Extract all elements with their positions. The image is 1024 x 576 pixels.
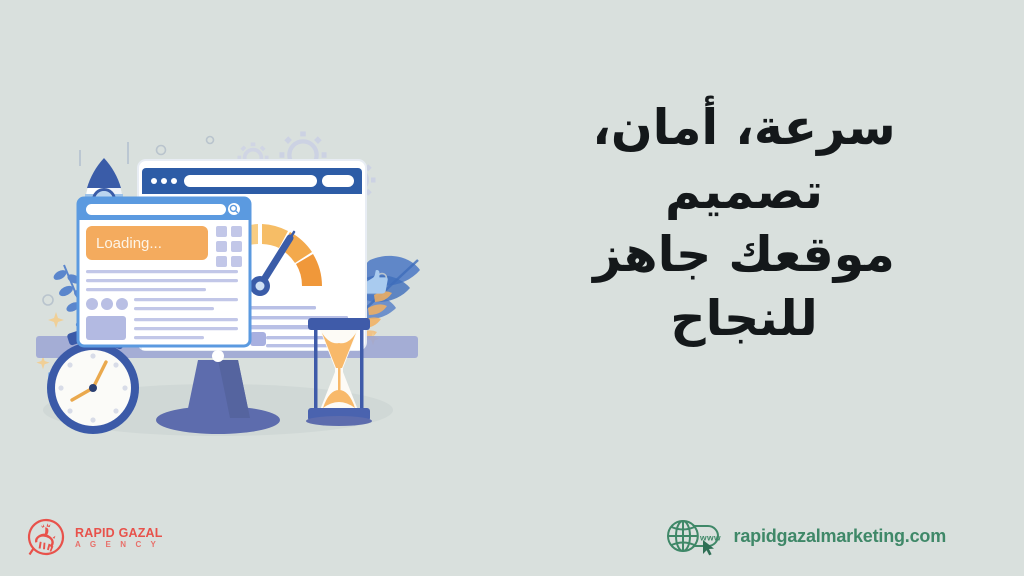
window-dots-icon: [151, 178, 177, 184]
gazelle-logo-icon: [26, 518, 66, 558]
address-bar: [184, 175, 317, 187]
website-footer[interactable]: www rapidgazalmarketing.com: [666, 516, 946, 556]
website-url[interactable]: rapidgazalmarketing.com: [734, 526, 946, 547]
promo-banner: Loading...: [0, 0, 1024, 576]
brand-subtitle: A G E N C Y: [75, 541, 163, 549]
globe-www-icon: www: [666, 516, 722, 556]
headline-line-2: تصميم: [534, 160, 954, 224]
headline: سرعة، أمان، تصميم موقعك جاهز للنجاح: [534, 96, 954, 351]
loading-window-avatars: [86, 298, 128, 310]
hourglass-icon: [306, 318, 372, 426]
headline-line-4: للنجاح: [534, 287, 954, 351]
search-icon: [228, 203, 240, 215]
headline-line-1: سرعة، أمان،: [534, 96, 954, 160]
toolbar-pill: [322, 175, 354, 187]
loading-window-image: [86, 316, 126, 340]
loading-window: Loading...: [78, 198, 250, 346]
brand-logo[interactable]: RAPID GAZAL A G E N C Y: [26, 518, 163, 558]
headline-line-3: موقعك جاهز: [534, 223, 954, 287]
search-bar: [86, 204, 226, 215]
hero-illustration: Loading...: [18, 120, 438, 450]
monitor-camera: [212, 350, 224, 362]
brand-name: RAPID GAZAL: [75, 527, 163, 540]
loading-label: Loading...: [96, 235, 162, 252]
brand-text: RAPID GAZAL A G E N C Y: [75, 527, 163, 550]
www-label: www: [699, 533, 721, 543]
